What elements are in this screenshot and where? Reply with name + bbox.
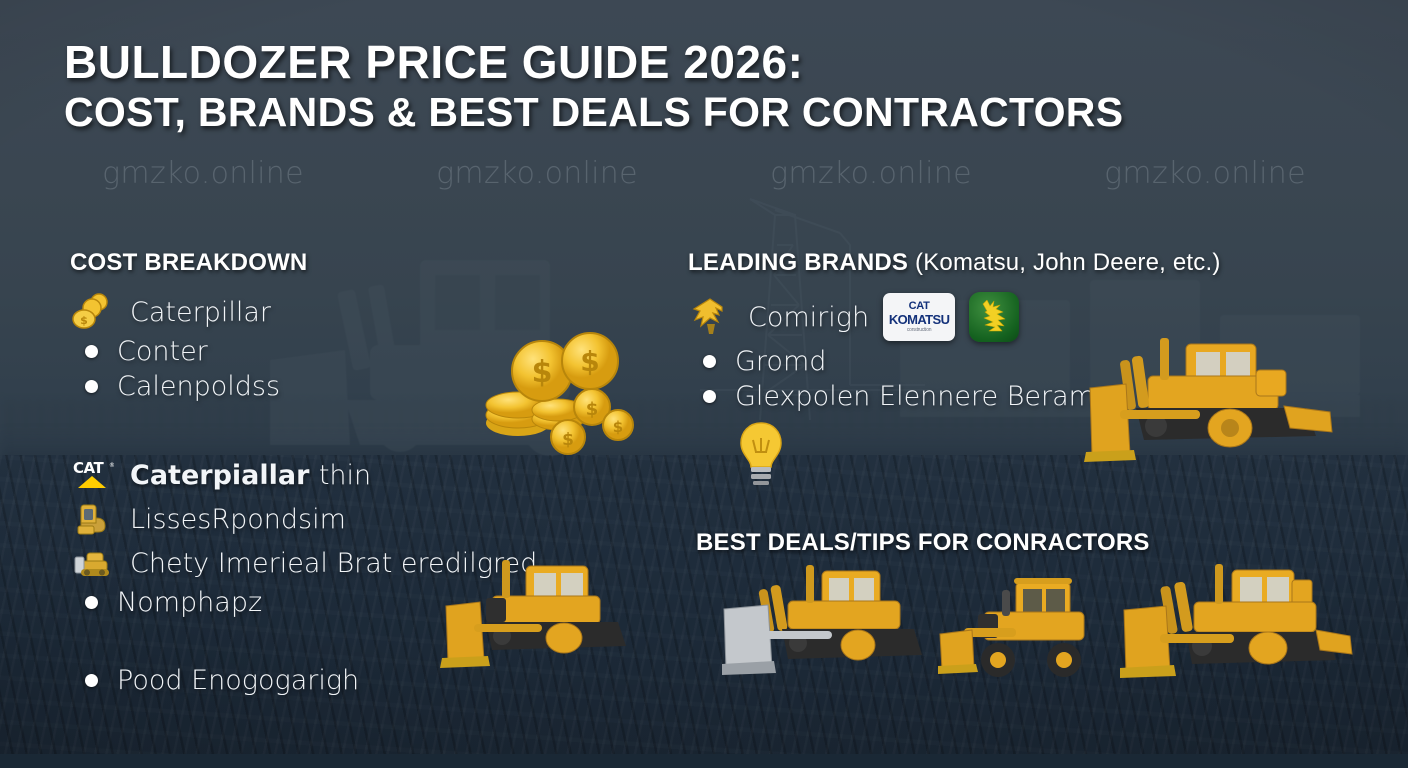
list-item-label: Conter [117,336,208,367]
svg-text:$: $ [580,345,599,378]
list-item[interactable]: Gromd [688,346,1095,377]
svg-text:$: $ [586,399,599,420]
page-title: BULLDOZER PRICE GUIDE 2026: COST, BRANDS… [64,38,1123,138]
bullet-icon [85,345,98,358]
title-line-1: BULLDOZER PRICE GUIDE 2026: [64,38,1123,87]
list-item[interactable]: Conter [70,336,280,367]
komatsu-logo-line2: KOMATSU [889,313,950,326]
bullet-icon [85,596,98,609]
svg-text:$: $ [80,314,88,327]
list-item[interactable]: Calenpoldss [70,371,280,402]
watermark: gmzko.online [436,156,638,191]
list-item-label: LissesRpondsim [130,504,346,535]
bulldozer-illustration-1 [440,558,655,673]
heading-leading-brands-sub: (Komatsu, John Deere, etc.) [908,249,1220,276]
list-item[interactable]: CAT ® Caterpiallar thin [70,455,537,495]
infographic-canvas: gmzko.online gmzko.online gmzko.online g… [0,0,1408,768]
cat-light-text: thin [319,460,371,491]
bottom-strip [0,754,1408,768]
gold-coins-icon: $ [70,292,114,332]
john-deere-logo [969,292,1019,342]
bullet-icon [85,380,98,393]
yellow-machine-icon [70,499,114,539]
gold-coins-illustration: $ $ $ $ $ [480,325,640,455]
yellow-dozer-icon [70,543,114,583]
list-cost-breakdown: $ Caterpillar Conter Calenpoldss [70,292,280,406]
list-item-label: Caterpiallar thin [130,460,371,491]
svg-text:CAT: CAT [73,459,104,477]
svg-text:$: $ [532,355,553,390]
bullet-icon [703,355,716,368]
heading-cost-breakdown-text: COST BREAKDOWN [70,249,307,276]
svg-text:®: ® [109,462,114,469]
list-item[interactable]: LissesRpondsim [70,499,537,539]
komatsu-logo-line1: CAT [909,301,930,312]
cat-bold-text: Caterpiallar [130,460,309,491]
cat-logo-icon: CAT ® [70,455,114,495]
list-item-label: Gromd [735,346,826,377]
list-leading-brands: Comirigh CAT KOMATSU construction Gromd … [688,292,1095,416]
list-item-label: Caterpillar [130,297,271,328]
heading-best-deals-text: BEST DEALS/TIPS FOR CONRACTORS [696,529,1150,556]
brand-row: Comirigh CAT KOMATSU construction [748,292,1019,342]
heading-leading-brands-bold: LEADING BRANDS [688,249,908,276]
list-item-label: Comirigh [748,302,869,333]
list-item-label: Glexpolen Elennere Beram [735,381,1095,412]
svg-text:$: $ [562,430,574,450]
bullet-icon [703,390,716,403]
list-item[interactable]: $ Caterpillar [70,292,280,332]
title-line-2: COST, BRANDS & BEST DEALS FOR CONTRACTOR… [64,87,1123,138]
list-item[interactable]: Comirigh CAT KOMATSU construction [688,292,1095,342]
bulldozer-illustration-right [1078,328,1348,478]
lightbulb-icon [733,420,789,486]
heading-best-deals: BEST DEALS/TIPS FOR CONRACTORS [696,529,1150,557]
heading-cost-breakdown: COST BREAKDOWN [70,249,307,277]
gold-gear-icon [688,297,732,337]
heading-leading-brands: LEADING BRANDS (Komatsu, John Deere, etc… [688,249,1221,277]
komatsu-logo: CAT KOMATSU construction [883,293,955,341]
watermark: gmzko.online [102,156,304,191]
list-item-label: Nomphapz [117,587,262,618]
svg-text:$: $ [613,418,623,436]
watermark: gmzko.online [770,156,972,191]
bulldozer-illustration-2 [722,565,937,680]
watermark-row: gmzko.online gmzko.online gmzko.online g… [0,156,1408,191]
list-item-label: Calenpoldss [117,371,280,402]
komatsu-logo-line3: construction [907,328,932,333]
bullet-icon [85,674,98,687]
bulldozer-illustration-3 [1120,562,1355,684]
deer-icon [976,300,1012,334]
watermark: gmzko.online [1104,156,1306,191]
list-item[interactable]: Glexpolen Elennere Beram [688,381,1095,412]
wheel-loader-illustration [938,572,1118,680]
list-item-label: Pood Enogogarigh [117,665,359,696]
